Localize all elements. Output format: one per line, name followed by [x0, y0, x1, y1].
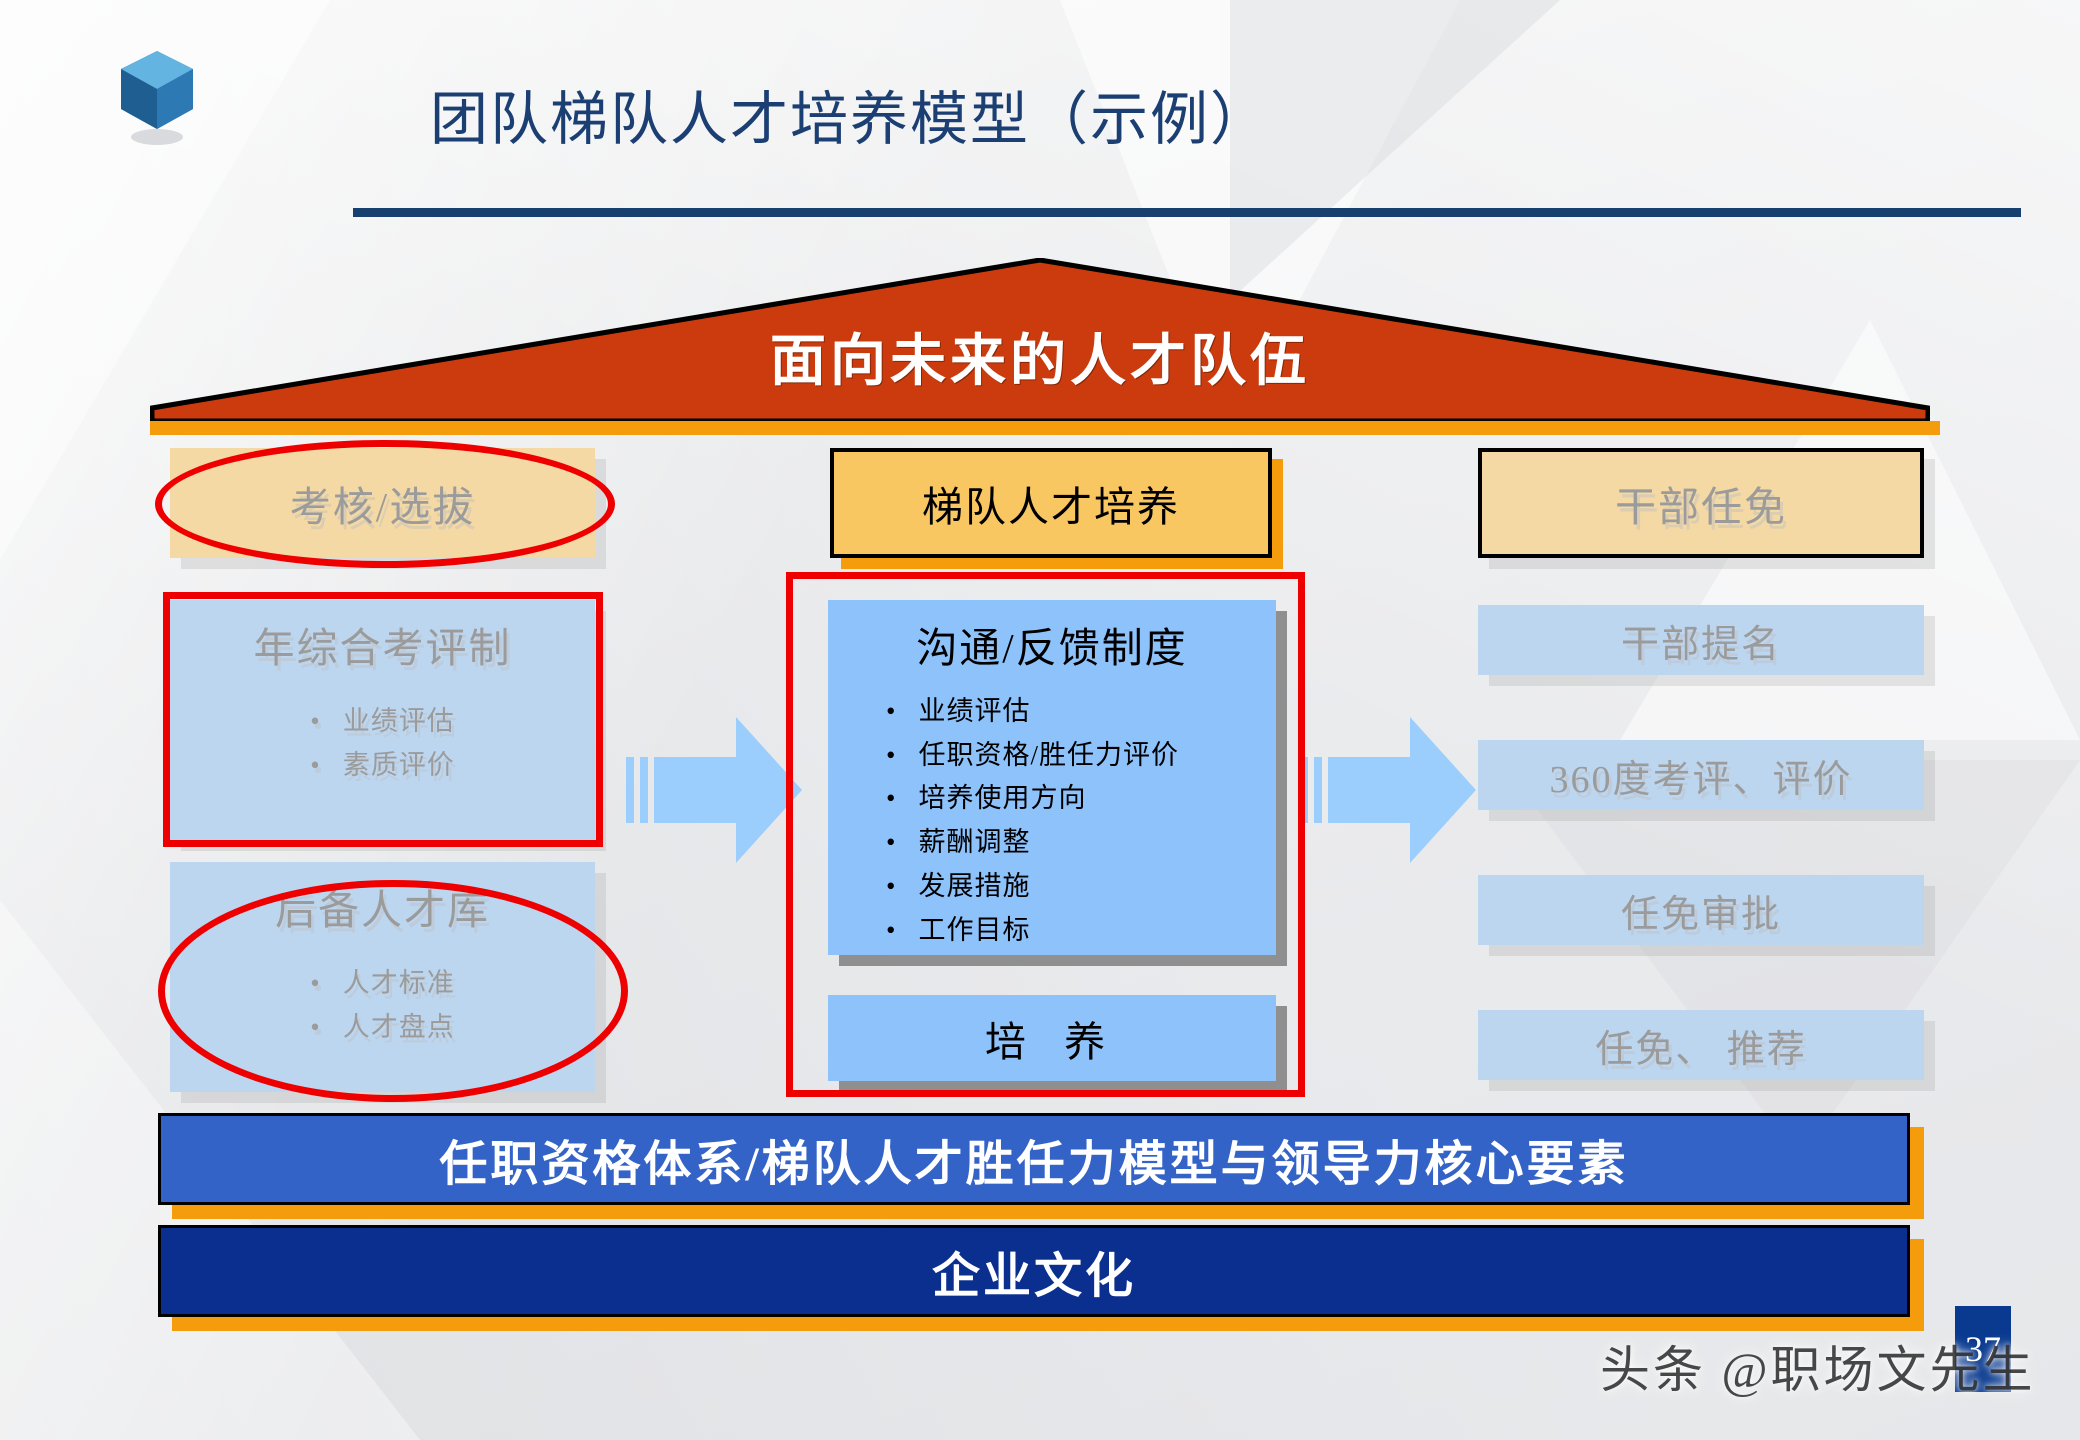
- list-item: 薪酬调整: [886, 821, 1179, 865]
- center-header-box[interactable]: 梯队人才培养: [830, 448, 1272, 558]
- right-item-box[interactable]: 任免、 推荐: [1478, 1010, 1924, 1080]
- list-item: 人才盘点: [310, 1006, 454, 1050]
- foundation-bar-label: 任职资格体系/梯队人才胜任力模型与领导力核心要素: [158, 1113, 1910, 1205]
- roof-shape: 面向未来的人才队伍: [150, 258, 1930, 423]
- list-item: 业绩评估: [310, 700, 454, 744]
- blue-cube-logo-icon: [113, 47, 201, 147]
- right-item-box[interactable]: 任免审批: [1478, 875, 1924, 945]
- arrow-right-icon: [1300, 705, 1480, 875]
- left-block-talent-pool[interactable]: 后备人才库 人才标准 人才盘点: [170, 862, 595, 1092]
- right-header-box[interactable]: 干部任免: [1478, 448, 1924, 558]
- list-item: 发展措施: [886, 865, 1179, 909]
- left-header-box[interactable]: 考核/选拔: [170, 448, 595, 558]
- list-item: 任职资格/胜任力评价: [886, 734, 1179, 778]
- left-block-list: 业绩评估 素质评价: [310, 700, 454, 787]
- list-item: 素质评价: [310, 744, 454, 788]
- title-divider: [353, 208, 2021, 217]
- left-block-title: 后备人才库: [275, 876, 490, 936]
- right-item-box[interactable]: 干部提名: [1478, 605, 1924, 675]
- background-facet: [1230, 0, 1560, 300]
- right-item-label: 干部提名: [1621, 613, 1781, 668]
- left-block-annual-review[interactable]: 年综合考评制 业绩评估 素质评价: [170, 600, 595, 840]
- list-item: 培养使用方向: [886, 777, 1179, 821]
- page-title: 团队梯队人才培养模型（示例）: [430, 72, 1270, 156]
- right-item-box[interactable]: 360度考评、评价: [1478, 740, 1924, 810]
- foundation-bar-label: 企业文化: [158, 1225, 1910, 1317]
- center-block-feedback-system[interactable]: 沟通/反馈制度 业绩评估 任职资格/胜任力评价 培养使用方向 薪酬调整 发展措施…: [828, 600, 1276, 955]
- watermark-text: 头条 @职场文先生: [1600, 1330, 2036, 1402]
- center-header-label: 梯队人才培养: [922, 473, 1180, 533]
- list-item: 人才标准: [310, 962, 454, 1006]
- left-block-title: 年综合考评制: [254, 614, 512, 674]
- center-develop-label: 培 养: [985, 1008, 1119, 1068]
- right-item-label: 任免、 推荐: [1595, 1018, 1807, 1073]
- foundation-bar-competency[interactable]: 任职资格体系/梯队人才胜任力模型与领导力核心要素: [158, 1113, 1910, 1205]
- slide-canvas: 团队梯队人才培养模型（示例） 面向未来的人才队伍 考核/选拔 年综合考评制 业绩…: [0, 0, 2080, 1440]
- right-item-label: 360度考评、评价: [1549, 748, 1852, 803]
- right-header-label: 干部任免: [1615, 473, 1787, 533]
- arrow-right-icon: [626, 705, 806, 875]
- left-header-label: 考核/选拔: [290, 473, 475, 533]
- left-block-list: 人才标准 人才盘点: [310, 962, 454, 1049]
- roof-label: 面向未来的人才队伍: [150, 316, 1930, 397]
- list-item: 业绩评估: [886, 690, 1179, 734]
- right-item-label: 任免审批: [1621, 883, 1781, 938]
- foundation-bar-culture[interactable]: 企业文化: [158, 1225, 1910, 1317]
- roof-base-bar: [150, 421, 1940, 435]
- center-block-develop[interactable]: 培 养: [828, 995, 1276, 1081]
- list-item: 工作目标: [886, 909, 1179, 953]
- center-block-list: 业绩评估 任职资格/胜任力评价 培养使用方向 薪酬调整 发展措施 工作目标: [886, 690, 1179, 952]
- center-block-title: 沟通/反馈制度: [916, 614, 1187, 674]
